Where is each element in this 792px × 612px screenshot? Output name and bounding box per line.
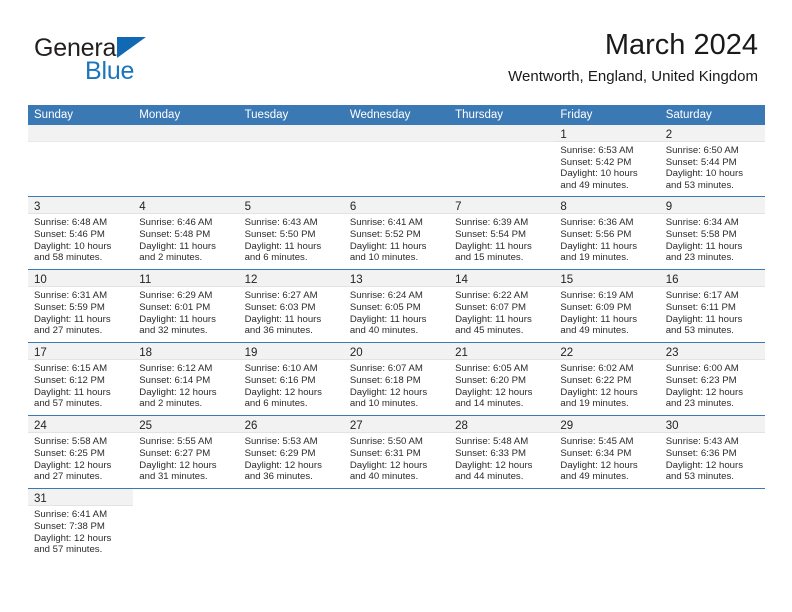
day-cell-12[interactable]: 12Sunrise: 6:27 AMSunset: 6:03 PMDayligh…: [239, 270, 344, 342]
day-cell-4[interactable]: 4Sunrise: 6:46 AMSunset: 5:48 PMDaylight…: [133, 197, 238, 269]
daylight-text-cont: and 6 minutes.: [245, 252, 338, 264]
day-cell-3[interactable]: 3Sunrise: 6:48 AMSunset: 5:46 PMDaylight…: [28, 197, 133, 269]
sunrise-text: Sunrise: 6:41 AM: [34, 509, 127, 521]
day-details: Sunrise: 6:27 AMSunset: 6:03 PMDaylight:…: [239, 287, 344, 341]
day-number: 12: [245, 274, 258, 286]
daylight-text: Daylight: 12 hours: [245, 460, 338, 472]
daylight-text: Daylight: 11 hours: [350, 314, 443, 326]
daylight-text: Daylight: 12 hours: [34, 460, 127, 472]
sunrise-text: Sunrise: 6:07 AM: [350, 363, 443, 375]
day-number-band: 25: [133, 416, 238, 433]
day-number-band: 15: [554, 270, 659, 287]
sunset-text: Sunset: 5:48 PM: [139, 229, 232, 241]
day-details: Sunrise: 6:50 AMSunset: 5:44 PMDaylight:…: [660, 142, 765, 196]
sunrise-text: Sunrise: 5:43 AM: [666, 436, 759, 448]
daylight-text: Daylight: 12 hours: [455, 387, 548, 399]
sunset-text: Sunset: 6:09 PM: [560, 302, 653, 314]
sunrise-text: Sunrise: 6:53 AM: [560, 145, 653, 157]
daylight-text: Daylight: 11 hours: [34, 387, 127, 399]
page-title: March 2024: [508, 28, 758, 62]
day-number-band: 14: [449, 270, 554, 287]
day-number: 28: [455, 420, 468, 432]
day-number: 2: [666, 129, 672, 141]
day-details: Sunrise: 6:36 AMSunset: 5:56 PMDaylight:…: [554, 214, 659, 268]
sunset-text: Sunset: 6:31 PM: [350, 448, 443, 460]
day-cell-7[interactable]: 7Sunrise: 6:39 AMSunset: 5:54 PMDaylight…: [449, 197, 554, 269]
day-details: Sunrise: 6:00 AMSunset: 6:23 PMDaylight:…: [660, 360, 765, 414]
day-details: Sunrise: 6:17 AMSunset: 6:11 PMDaylight:…: [660, 287, 765, 341]
day-cell-empty: [28, 125, 133, 196]
day-cell-empty: [239, 489, 344, 567]
daylight-text: Daylight: 12 hours: [350, 387, 443, 399]
day-cell-8[interactable]: 8Sunrise: 6:36 AMSunset: 5:56 PMDaylight…: [554, 197, 659, 269]
day-number: 9: [666, 201, 672, 213]
day-details: Sunrise: 6:46 AMSunset: 5:48 PMDaylight:…: [133, 214, 238, 268]
day-number: 16: [666, 274, 679, 286]
daylight-text: Daylight: 12 hours: [139, 460, 232, 472]
sunset-text: Sunset: 6:29 PM: [245, 448, 338, 460]
daylight-text: Daylight: 10 hours: [666, 168, 759, 180]
day-cell-1[interactable]: 1Sunrise: 6:53 AMSunset: 5:42 PMDaylight…: [554, 125, 659, 196]
sunrise-text: Sunrise: 6:02 AM: [560, 363, 653, 375]
daylight-text-cont: and 19 minutes.: [560, 398, 653, 410]
daylight-text-cont: and 23 minutes.: [666, 398, 759, 410]
sunset-text: Sunset: 5:56 PM: [560, 229, 653, 241]
sunrise-text: Sunrise: 5:58 AM: [34, 436, 127, 448]
day-details: Sunrise: 6:02 AMSunset: 6:22 PMDaylight:…: [554, 360, 659, 414]
day-number-band: 27: [344, 416, 449, 433]
sunrise-text: Sunrise: 6:05 AM: [455, 363, 548, 375]
day-number: 3: [34, 201, 40, 213]
daylight-text-cont: and 14 minutes.: [455, 398, 548, 410]
daylight-text: Daylight: 11 hours: [350, 241, 443, 253]
day-details: [239, 506, 344, 514]
daylight-text-cont: and 53 minutes.: [666, 180, 759, 192]
sunrise-text: Sunrise: 6:00 AM: [666, 363, 759, 375]
daylight-text: Daylight: 12 hours: [666, 387, 759, 399]
day-number: 14: [455, 274, 468, 286]
day-number-band: [449, 489, 554, 506]
day-cell-empty: [660, 489, 765, 567]
day-number-band: [28, 125, 133, 142]
day-number-band: 3: [28, 197, 133, 214]
day-number: 8: [560, 201, 566, 213]
daylight-text: Daylight: 11 hours: [666, 241, 759, 253]
day-details: Sunrise: 6:15 AMSunset: 6:12 PMDaylight:…: [28, 360, 133, 414]
day-number-band: [344, 489, 449, 506]
daylight-text-cont: and 27 minutes.: [34, 325, 127, 337]
day-cell-18[interactable]: 18Sunrise: 6:12 AMSunset: 6:14 PMDayligh…: [133, 343, 238, 415]
weekday-header-thursday: Thursday: [449, 105, 554, 125]
daylight-text: Daylight: 11 hours: [455, 314, 548, 326]
day-details: Sunrise: 6:39 AMSunset: 5:54 PMDaylight:…: [449, 214, 554, 268]
sunrise-text: Sunrise: 6:17 AM: [666, 290, 759, 302]
daylight-text-cont: and 58 minutes.: [34, 252, 127, 264]
sunset-text: Sunset: 5:54 PM: [455, 229, 548, 241]
day-cell-17[interactable]: 17Sunrise: 6:15 AMSunset: 6:12 PMDayligh…: [28, 343, 133, 415]
triangle-icon: [117, 37, 146, 58]
day-cell-2[interactable]: 2Sunrise: 6:50 AMSunset: 5:44 PMDaylight…: [660, 125, 765, 196]
weekday-header-sunday: Sunday: [28, 105, 133, 125]
day-number: 23: [666, 347, 679, 359]
day-number-band: 29: [554, 416, 659, 433]
daylight-text-cont: and 40 minutes.: [350, 471, 443, 483]
day-details: Sunrise: 6:43 AMSunset: 5:50 PMDaylight:…: [239, 214, 344, 268]
sunset-text: Sunset: 5:59 PM: [34, 302, 127, 314]
sunset-text: Sunset: 5:50 PM: [245, 229, 338, 241]
day-number: 10: [34, 274, 47, 286]
day-cell-25[interactable]: 25Sunrise: 5:55 AMSunset: 6:27 PMDayligh…: [133, 416, 238, 488]
day-number: 15: [560, 274, 573, 286]
day-number: 1: [560, 129, 566, 141]
weekday-header-tuesday: Tuesday: [239, 105, 344, 125]
daylight-text-cont: and 49 minutes.: [560, 325, 653, 337]
weekday-header-saturday: Saturday: [660, 105, 765, 125]
day-number: 18: [139, 347, 152, 359]
day-details: Sunrise: 6:24 AMSunset: 6:05 PMDaylight:…: [344, 287, 449, 341]
sunset-text: Sunset: 6:27 PM: [139, 448, 232, 460]
day-cell-30[interactable]: 30Sunrise: 5:43 AMSunset: 6:36 PMDayligh…: [660, 416, 765, 488]
sunset-text: Sunset: 6:01 PM: [139, 302, 232, 314]
day-number: 27: [350, 420, 363, 432]
day-cell-22[interactable]: 22Sunrise: 6:02 AMSunset: 6:22 PMDayligh…: [554, 343, 659, 415]
calendar-week-row: 24Sunrise: 5:58 AMSunset: 6:25 PMDayligh…: [28, 415, 765, 488]
day-details: Sunrise: 5:48 AMSunset: 6:33 PMDaylight:…: [449, 433, 554, 487]
day-number-band: 31: [28, 489, 133, 506]
sunrise-text: Sunrise: 5:55 AM: [139, 436, 232, 448]
sunrise-text: Sunrise: 6:10 AM: [245, 363, 338, 375]
day-number-band: 17: [28, 343, 133, 360]
daylight-text-cont: and 32 minutes.: [139, 325, 232, 337]
daylight-text: Daylight: 12 hours: [560, 387, 653, 399]
daylight-text: Daylight: 12 hours: [34, 533, 127, 545]
day-cell-empty: [133, 489, 238, 567]
day-cell-5[interactable]: 5Sunrise: 6:43 AMSunset: 5:50 PMDaylight…: [239, 197, 344, 269]
day-details: Sunrise: 6:10 AMSunset: 6:16 PMDaylight:…: [239, 360, 344, 414]
sunset-text: Sunset: 6:23 PM: [666, 375, 759, 387]
day-number-band: 19: [239, 343, 344, 360]
day-number-band: 8: [554, 197, 659, 214]
daylight-text-cont: and 10 minutes.: [350, 398, 443, 410]
day-cell-28[interactable]: 28Sunrise: 5:48 AMSunset: 6:33 PMDayligh…: [449, 416, 554, 488]
day-number: 5: [245, 201, 251, 213]
day-details: [449, 506, 554, 514]
sunset-text: Sunset: 6:14 PM: [139, 375, 232, 387]
daylight-text-cont: and 57 minutes.: [34, 544, 127, 556]
sunrise-text: Sunrise: 6:48 AM: [34, 217, 127, 229]
calendar-table: SundayMondayTuesdayWednesdayThursdayFrid…: [28, 105, 765, 567]
day-number-band: 26: [239, 416, 344, 433]
sunset-text: Sunset: 5:46 PM: [34, 229, 127, 241]
day-cell-empty: [344, 125, 449, 196]
daylight-text: Daylight: 12 hours: [666, 460, 759, 472]
daylight-text: Daylight: 10 hours: [560, 168, 653, 180]
day-details: Sunrise: 6:07 AMSunset: 6:18 PMDaylight:…: [344, 360, 449, 414]
daylight-text: Daylight: 11 hours: [139, 314, 232, 326]
day-number-band: 16: [660, 270, 765, 287]
day-number: 30: [666, 420, 679, 432]
day-number: 22: [560, 347, 573, 359]
day-details: Sunrise: 5:58 AMSunset: 6:25 PMDaylight:…: [28, 433, 133, 487]
day-number-band: 10: [28, 270, 133, 287]
sunset-text: Sunset: 6:25 PM: [34, 448, 127, 460]
sunrise-text: Sunrise: 5:48 AM: [455, 436, 548, 448]
day-number-band: [133, 125, 238, 142]
daylight-text-cont: and 10 minutes.: [350, 252, 443, 264]
sunrise-text: Sunrise: 6:12 AM: [139, 363, 232, 375]
day-cell-16[interactable]: 16Sunrise: 6:17 AMSunset: 6:11 PMDayligh…: [660, 270, 765, 342]
brand-name-blue: Blue: [85, 57, 134, 85]
sunset-text: Sunset: 5:44 PM: [666, 157, 759, 169]
daylight-text-cont: and 45 minutes.: [455, 325, 548, 337]
day-details: Sunrise: 5:45 AMSunset: 6:34 PMDaylight:…: [554, 433, 659, 487]
calendar-week-row: 17Sunrise: 6:15 AMSunset: 6:12 PMDayligh…: [28, 342, 765, 415]
sunrise-text: Sunrise: 6:24 AM: [350, 290, 443, 302]
daylight-text: Daylight: 11 hours: [455, 241, 548, 253]
day-details: Sunrise: 6:12 AMSunset: 6:14 PMDaylight:…: [133, 360, 238, 414]
day-cell-9[interactable]: 9Sunrise: 6:34 AMSunset: 5:58 PMDaylight…: [660, 197, 765, 269]
day-details: Sunrise: 6:48 AMSunset: 5:46 PMDaylight:…: [28, 214, 133, 268]
sunset-text: Sunset: 6:03 PM: [245, 302, 338, 314]
day-number: 29: [560, 420, 573, 432]
daylight-text: Daylight: 11 hours: [560, 241, 653, 253]
day-details: [239, 142, 344, 150]
daylight-text: Daylight: 11 hours: [34, 314, 127, 326]
daylight-text-cont: and 57 minutes.: [34, 398, 127, 410]
sunrise-text: Sunrise: 6:41 AM: [350, 217, 443, 229]
daylight-text-cont: and 15 minutes.: [455, 252, 548, 264]
sunset-text: Sunset: 6:05 PM: [350, 302, 443, 314]
sunset-text: Sunset: 6:20 PM: [455, 375, 548, 387]
sunset-text: Sunset: 6:16 PM: [245, 375, 338, 387]
daylight-text: Daylight: 11 hours: [139, 241, 232, 253]
day-number-band: 18: [133, 343, 238, 360]
day-cell-empty: [344, 489, 449, 567]
day-cell-empty: [449, 125, 554, 196]
day-details: Sunrise: 5:53 AMSunset: 6:29 PMDaylight:…: [239, 433, 344, 487]
day-number: 13: [350, 274, 363, 286]
sunrise-text: Sunrise: 6:34 AM: [666, 217, 759, 229]
daylight-text-cont: and 31 minutes.: [139, 471, 232, 483]
day-details: [28, 142, 133, 150]
sunrise-text: Sunrise: 6:22 AM: [455, 290, 548, 302]
day-number-band: 23: [660, 343, 765, 360]
sunset-text: Sunset: 6:07 PM: [455, 302, 548, 314]
day-number-band: 28: [449, 416, 554, 433]
daylight-text-cont: and 2 minutes.: [139, 252, 232, 264]
daylight-text-cont: and 6 minutes.: [245, 398, 338, 410]
day-number-band: 4: [133, 197, 238, 214]
weekday-header-row: SundayMondayTuesdayWednesdayThursdayFrid…: [28, 105, 765, 125]
day-number-band: 7: [449, 197, 554, 214]
day-cell-19[interactable]: 19Sunrise: 6:10 AMSunset: 6:16 PMDayligh…: [239, 343, 344, 415]
day-details: Sunrise: 6:41 AMSunset: 7:38 PMDaylight:…: [28, 506, 133, 560]
day-number-band: 13: [344, 270, 449, 287]
daylight-text: Daylight: 11 hours: [560, 314, 653, 326]
location-subtitle: Wentworth, England, United Kingdom: [508, 66, 758, 88]
day-number: 19: [245, 347, 258, 359]
sunrise-text: Sunrise: 6:27 AM: [245, 290, 338, 302]
daylight-text: Daylight: 12 hours: [560, 460, 653, 472]
day-number-band: 30: [660, 416, 765, 433]
sunrise-text: Sunrise: 5:53 AM: [245, 436, 338, 448]
daylight-text-cont: and 2 minutes.: [139, 398, 232, 410]
daylight-text-cont: and 36 minutes.: [245, 325, 338, 337]
daylight-text-cont: and 49 minutes.: [560, 471, 653, 483]
day-details: [344, 142, 449, 150]
day-cell-20[interactable]: 20Sunrise: 6:07 AMSunset: 6:18 PMDayligh…: [344, 343, 449, 415]
day-cell-24[interactable]: 24Sunrise: 5:58 AMSunset: 6:25 PMDayligh…: [28, 416, 133, 488]
calendar-body: 1Sunrise: 6:53 AMSunset: 5:42 PMDaylight…: [28, 125, 765, 567]
day-details: Sunrise: 6:29 AMSunset: 6:01 PMDaylight:…: [133, 287, 238, 341]
calendar-page: General Blue March 2024 Wentworth, Engla…: [0, 0, 792, 612]
sunrise-text: Sunrise: 6:29 AM: [139, 290, 232, 302]
sunrise-text: Sunrise: 6:31 AM: [34, 290, 127, 302]
day-cell-31[interactable]: 31Sunrise: 6:41 AMSunset: 7:38 PMDayligh…: [28, 489, 133, 567]
day-number: 11: [139, 274, 151, 286]
daylight-text-cont: and 53 minutes.: [666, 325, 759, 337]
day-details: Sunrise: 6:19 AMSunset: 6:09 PMDaylight:…: [554, 287, 659, 341]
day-number-band: 6: [344, 197, 449, 214]
sunset-text: Sunset: 7:38 PM: [34, 521, 127, 533]
sunset-text: Sunset: 6:11 PM: [666, 302, 759, 314]
sunset-text: Sunset: 6:12 PM: [34, 375, 127, 387]
day-details: [449, 142, 554, 150]
day-details: [133, 142, 238, 150]
sunset-text: Sunset: 6:36 PM: [666, 448, 759, 460]
daylight-text-cont: and 23 minutes.: [666, 252, 759, 264]
day-cell-6[interactable]: 6Sunrise: 6:41 AMSunset: 5:52 PMDaylight…: [344, 197, 449, 269]
day-cell-11[interactable]: 11Sunrise: 6:29 AMSunset: 6:01 PMDayligh…: [133, 270, 238, 342]
day-number-band: 24: [28, 416, 133, 433]
day-number: 31: [34, 493, 47, 505]
daylight-text: Daylight: 12 hours: [139, 387, 232, 399]
day-cell-23[interactable]: 23Sunrise: 6:00 AMSunset: 6:23 PMDayligh…: [660, 343, 765, 415]
day-number-band: 2: [660, 125, 765, 142]
brand-logo[interactable]: General Blue: [34, 34, 234, 92]
daylight-text-cont: and 49 minutes.: [560, 180, 653, 192]
day-details: [344, 506, 449, 514]
daylight-text: Daylight: 11 hours: [245, 241, 338, 253]
day-number-band: 9: [660, 197, 765, 214]
sunrise-text: Sunrise: 6:39 AM: [455, 217, 548, 229]
day-cell-10[interactable]: 10Sunrise: 6:31 AMSunset: 5:59 PMDayligh…: [28, 270, 133, 342]
daylight-text-cont: and 44 minutes.: [455, 471, 548, 483]
page-header: General Blue March 2024 Wentworth, Engla…: [34, 28, 758, 98]
daylight-text-cont: and 19 minutes.: [560, 252, 653, 264]
day-number-band: 20: [344, 343, 449, 360]
day-number: 25: [139, 420, 152, 432]
sunrise-text: Sunrise: 6:19 AM: [560, 290, 653, 302]
day-cell-14[interactable]: 14Sunrise: 6:22 AMSunset: 6:07 PMDayligh…: [449, 270, 554, 342]
day-cell-15[interactable]: 15Sunrise: 6:19 AMSunset: 6:09 PMDayligh…: [554, 270, 659, 342]
day-cell-29[interactable]: 29Sunrise: 5:45 AMSunset: 6:34 PMDayligh…: [554, 416, 659, 488]
title-block: March 2024 Wentworth, England, United Ki…: [508, 28, 758, 88]
daylight-text: Daylight: 10 hours: [34, 241, 127, 253]
sunrise-text: Sunrise: 6:15 AM: [34, 363, 127, 375]
sunset-text: Sunset: 5:58 PM: [666, 229, 759, 241]
day-cell-27[interactable]: 27Sunrise: 5:50 AMSunset: 6:31 PMDayligh…: [344, 416, 449, 488]
day-number: 17: [34, 347, 47, 359]
day-number-band: 12: [239, 270, 344, 287]
day-number: 24: [34, 420, 47, 432]
day-number-band: 11: [133, 270, 238, 287]
sunrise-text: Sunrise: 5:50 AM: [350, 436, 443, 448]
day-number-band: 22: [554, 343, 659, 360]
day-details: [133, 506, 238, 514]
day-details: Sunrise: 6:05 AMSunset: 6:20 PMDaylight:…: [449, 360, 554, 414]
day-cell-26[interactable]: 26Sunrise: 5:53 AMSunset: 6:29 PMDayligh…: [239, 416, 344, 488]
day-details: [554, 506, 659, 514]
day-number-band: 5: [239, 197, 344, 214]
sunrise-text: Sunrise: 6:50 AM: [666, 145, 759, 157]
day-details: [660, 506, 765, 514]
sunrise-text: Sunrise: 5:45 AM: [560, 436, 653, 448]
day-details: Sunrise: 6:22 AMSunset: 6:07 PMDaylight:…: [449, 287, 554, 341]
day-cell-21[interactable]: 21Sunrise: 6:05 AMSunset: 6:20 PMDayligh…: [449, 343, 554, 415]
day-details: Sunrise: 6:34 AMSunset: 5:58 PMDaylight:…: [660, 214, 765, 268]
calendar-week-row: 31Sunrise: 6:41 AMSunset: 7:38 PMDayligh…: [28, 488, 765, 567]
daylight-text: Daylight: 11 hours: [245, 314, 338, 326]
day-number-band: [660, 489, 765, 506]
day-number: 4: [139, 201, 145, 213]
sunset-text: Sunset: 5:42 PM: [560, 157, 653, 169]
day-details: Sunrise: 5:50 AMSunset: 6:31 PMDaylight:…: [344, 433, 449, 487]
day-number-band: [449, 125, 554, 142]
sunset-text: Sunset: 6:18 PM: [350, 375, 443, 387]
day-number: 21: [455, 347, 468, 359]
daylight-text: Daylight: 12 hours: [455, 460, 548, 472]
weekday-header-friday: Friday: [554, 105, 659, 125]
calendar-week-row: 10Sunrise: 6:31 AMSunset: 5:59 PMDayligh…: [28, 269, 765, 342]
day-details: Sunrise: 5:55 AMSunset: 6:27 PMDaylight:…: [133, 433, 238, 487]
day-details: Sunrise: 6:31 AMSunset: 5:59 PMDaylight:…: [28, 287, 133, 341]
day-number: 20: [350, 347, 363, 359]
daylight-text-cont: and 27 minutes.: [34, 471, 127, 483]
day-details: Sunrise: 6:53 AMSunset: 5:42 PMDaylight:…: [554, 142, 659, 196]
calendar-week-row: 3Sunrise: 6:48 AMSunset: 5:46 PMDaylight…: [28, 196, 765, 269]
day-number-band: [239, 125, 344, 142]
day-number-band: [344, 125, 449, 142]
day-number-band: [133, 489, 238, 506]
day-details: Sunrise: 6:41 AMSunset: 5:52 PMDaylight:…: [344, 214, 449, 268]
day-number: 26: [245, 420, 258, 432]
weekday-header-monday: Monday: [133, 105, 238, 125]
day-number-band: 1: [554, 125, 659, 142]
day-number: 6: [350, 201, 356, 213]
day-cell-13[interactable]: 13Sunrise: 6:24 AMSunset: 6:05 PMDayligh…: [344, 270, 449, 342]
day-number-band: [239, 489, 344, 506]
sunset-text: Sunset: 5:52 PM: [350, 229, 443, 241]
day-details: Sunrise: 5:43 AMSunset: 6:36 PMDaylight:…: [660, 433, 765, 487]
sunset-text: Sunset: 6:34 PM: [560, 448, 653, 460]
weekday-header-wednesday: Wednesday: [344, 105, 449, 125]
day-cell-empty: [554, 489, 659, 567]
sunrise-text: Sunrise: 6:46 AM: [139, 217, 232, 229]
sunset-text: Sunset: 6:33 PM: [455, 448, 548, 460]
daylight-text: Daylight: 11 hours: [666, 314, 759, 326]
day-number-band: [554, 489, 659, 506]
daylight-text-cont: and 40 minutes.: [350, 325, 443, 337]
daylight-text-cont: and 53 minutes.: [666, 471, 759, 483]
daylight-text: Daylight: 12 hours: [350, 460, 443, 472]
sunrise-text: Sunrise: 6:36 AM: [560, 217, 653, 229]
sunset-text: Sunset: 6:22 PM: [560, 375, 653, 387]
daylight-text-cont: and 36 minutes.: [245, 471, 338, 483]
day-number: 7: [455, 201, 461, 213]
day-number-band: 21: [449, 343, 554, 360]
calendar-week-row: 1Sunrise: 6:53 AMSunset: 5:42 PMDaylight…: [28, 125, 765, 196]
